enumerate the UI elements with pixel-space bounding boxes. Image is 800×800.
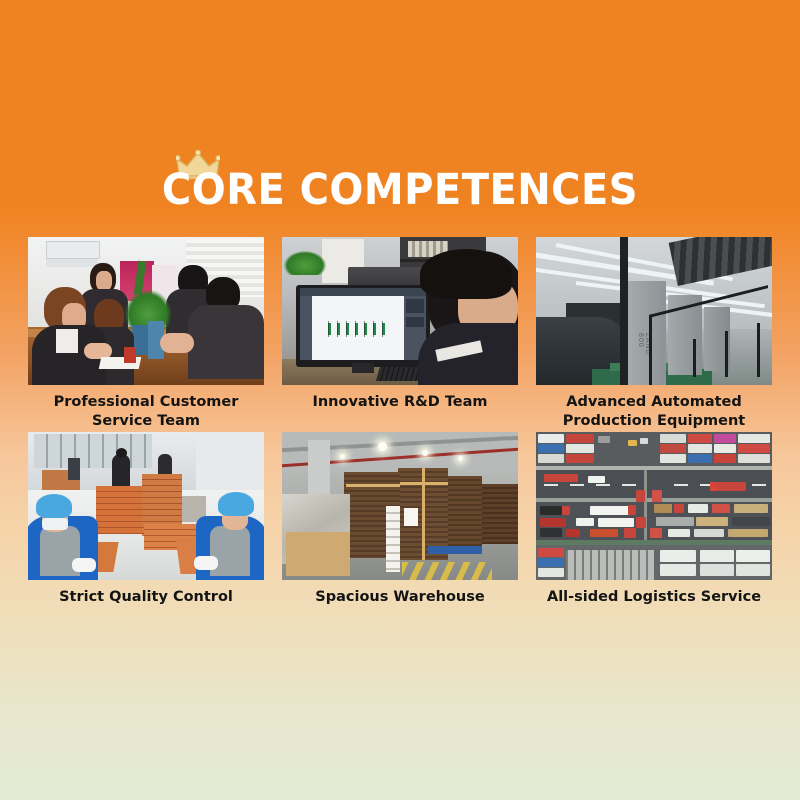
competence-caption: Advanced Automated Production Equipment — [536, 385, 772, 428]
caption-line-1: Professional Customer — [54, 394, 239, 410]
competence-card-logistics[interactable]: All-sided Logistics Service — [536, 432, 772, 623]
photo-warehouse — [282, 432, 518, 580]
photo-customer-service-team — [28, 237, 264, 385]
caption-line-2: Service Team — [92, 413, 200, 429]
competence-caption: Professional Customer Service Team — [28, 385, 264, 428]
competence-caption: Strict Quality Control — [28, 580, 264, 623]
competence-caption: All-sided Logistics Service — [536, 580, 772, 623]
competence-card-customer-service[interactable]: Professional Customer Service Team — [28, 237, 264, 428]
title-block: CORE COMPETENCES — [0, 150, 800, 206]
photo-production-equipment: LAND 800 — [536, 237, 772, 385]
competence-caption: Spacious Warehouse — [282, 580, 518, 623]
caption-line-1: Advanced Automated — [566, 394, 742, 410]
caption-line-1: Spacious Warehouse — [315, 589, 484, 605]
photo-quality-control — [28, 432, 264, 580]
competence-card-quality-control[interactable]: Strict Quality Control — [28, 432, 264, 623]
competences-grid: Professional Customer Service Team Innov… — [28, 237, 772, 623]
competence-card-warehouse[interactable]: Spacious Warehouse — [282, 432, 518, 623]
caption-line-1: All-sided Logistics Service — [547, 589, 761, 605]
core-competences-banner: CORE COMPETENCES Professional Cus — [0, 0, 800, 800]
caption-line-1: Innovative R&D Team — [312, 394, 487, 410]
page-title: CORE COMPETENCES — [162, 162, 638, 218]
caption-line-2: Production Equipment — [563, 413, 745, 429]
competence-card-rd-team[interactable]: Innovative R&D Team — [282, 237, 518, 428]
competence-caption: Innovative R&D Team — [282, 385, 518, 428]
caption-line-1: Strict Quality Control — [59, 589, 233, 605]
photo-logistics-service — [536, 432, 772, 580]
competence-card-production-equipment[interactable]: LAND 800 Advanced Automated Production E… — [536, 237, 772, 428]
photo-rd-team — [282, 237, 518, 385]
